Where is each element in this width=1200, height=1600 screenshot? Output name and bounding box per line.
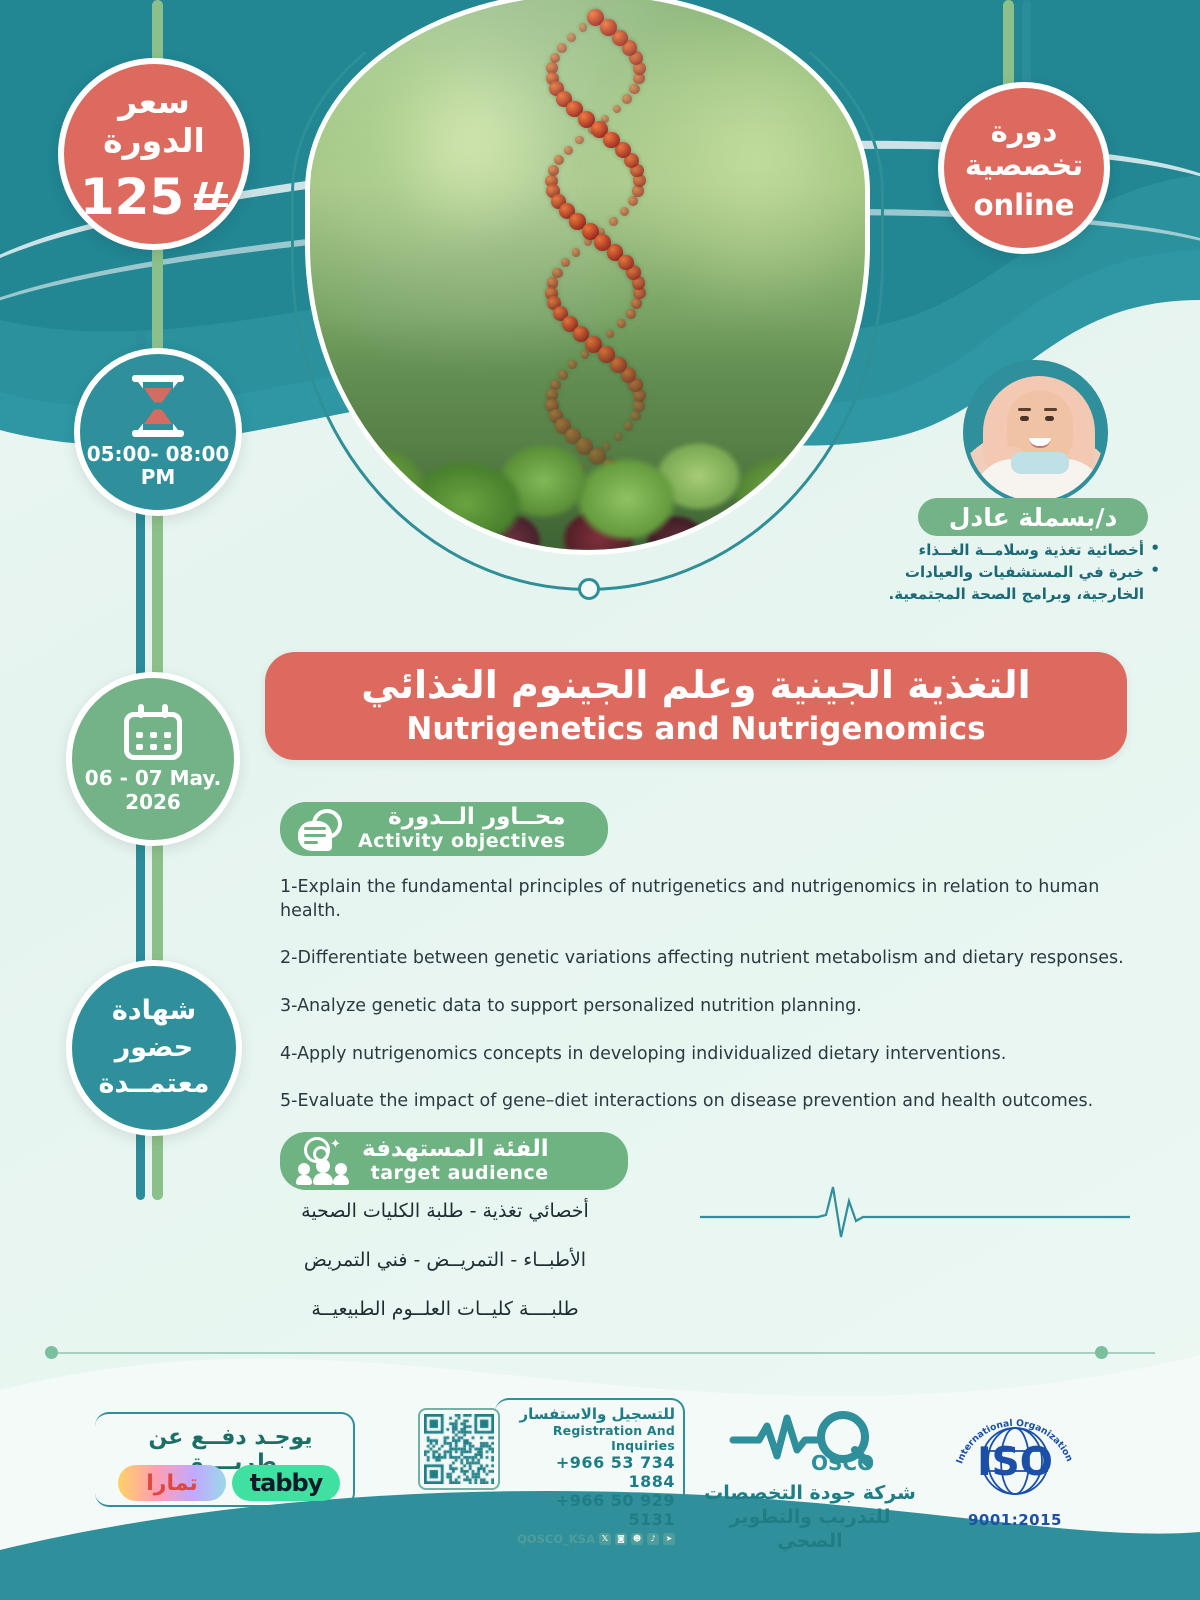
price-label: سعر الدورة [64, 82, 244, 160]
saudi-riyal-icon [194, 179, 228, 215]
speaker-bio-item: أخصائية تغذية وسلامــة الغــذاء [880, 540, 1160, 562]
date-value: 06 - 07 May.2026 [85, 766, 221, 814]
objective-item: 2-Differentiate between genetic variatio… [280, 947, 1160, 971]
contact-phone-2[interactable]: +966 50 929 5131 [505, 1491, 675, 1529]
objective-item: 5-Evaluate the impact of gene–diet inter… [280, 1090, 1160, 1114]
x-icon[interactable]: 𝕏 [599, 1533, 611, 1545]
telegram-icon[interactable]: ➤ [663, 1533, 675, 1545]
objective-item: 4-Apply nutrigenomics concepts in develo… [280, 1043, 1160, 1067]
speaker-bio-list: أخصائية تغذية وسلامــة الغــذاءخبرة في ا… [880, 540, 1160, 605]
certificate-label: شهادة حضورمعتمــدة [72, 993, 236, 1102]
hourglass-icon [130, 375, 186, 437]
company-block: OSCO شركة جودة التخصصاتللتدريب والتطوير … [700, 1410, 920, 1553]
calendar-icon [124, 704, 182, 760]
instagram-icon[interactable]: ◙ [615, 1533, 627, 1545]
company-name: شركة جودة التخصصاتللتدريب والتطوير الصحي [700, 1482, 920, 1553]
price-amount: 125 [80, 168, 184, 226]
social-handle-row: QOSCO_KSA 𝕏 ◙ ☻ ♪ ➤ [505, 1532, 675, 1546]
target-audience-icon: ✦ [298, 1137, 348, 1185]
objectives-heading-arabic: محــاور الــدورة [388, 805, 565, 831]
course-title-banner: التغذية الجينية وعلم الجينوم الغذائي Nut… [265, 652, 1127, 760]
course-title-english: Nutrigenetics and Nutrigenomics [406, 711, 985, 747]
objectives-heading-english: Activity objectives [358, 831, 566, 852]
certificate-badge: شهادة حضورمعتمــدة [66, 960, 242, 1136]
time-value: 05:00- 08:00 PM [80, 443, 236, 489]
iso-badge: International Organization for Standardi… [940, 1395, 1090, 1529]
chat-bubble-icon [298, 807, 344, 851]
social-handle: QOSCO_KSA [517, 1532, 595, 1546]
snapchat-icon[interactable]: ☻ [631, 1533, 643, 1545]
contact-phone-1[interactable]: +966 53 734 1884 [505, 1453, 675, 1491]
speaker-bio-item: خبرة في المستشفيات والعيادات الخارجية، و… [880, 562, 1160, 606]
footer-divider-dot-left [45, 1346, 58, 1359]
date-badge: 06 - 07 May.2026 [66, 672, 240, 846]
iso-mark: ISO [977, 1440, 1053, 1485]
objectives-list: 1-Explain the fundamental principles of … [280, 876, 1160, 1138]
price-badge: سعر الدورة 125 [58, 58, 250, 250]
tiktok-icon[interactable]: ♪ [647, 1533, 659, 1545]
ecg-line-decoration [700, 1175, 1130, 1245]
hero-image [305, 0, 870, 555]
footer-divider [45, 1352, 1155, 1354]
time-badge: 05:00- 08:00 PM [74, 348, 242, 516]
audience-heading: ✦ الفئة المستهدفة target audience [280, 1132, 628, 1190]
speaker-name: د/بسملة عادل [918, 498, 1148, 536]
online-badge-english: online [974, 188, 1075, 222]
course-title-arabic: التغذية الجينية وعلم الجينوم الغذائي [361, 665, 1030, 707]
audience-item: أخصائي تغذية - طلبة الكليات الصحية [280, 1200, 610, 1223]
audience-heading-arabic: الفئة المستهدفة [362, 1137, 549, 1163]
audience-item: الأطبــاء - التمريــض - فني التمريض [280, 1249, 610, 1272]
tamara-logo[interactable]: تمارا [118, 1465, 226, 1501]
speaker-avatar [963, 360, 1108, 505]
contact-block: للتسجيل والاستفسار Registration And Inqu… [505, 1405, 675, 1546]
audience-heading-english: target audience [371, 1163, 549, 1184]
online-badge-arabic: دورة تخصصية [944, 114, 1104, 182]
footer-divider-dot-right [1095, 1346, 1108, 1359]
iso-standard: 9001:2015 [940, 1511, 1090, 1529]
objectives-heading: محــاور الــدورة Activity objectives [280, 802, 608, 856]
tabby-logo[interactable]: tabby [232, 1465, 340, 1501]
contact-title-arabic: للتسجيل والاستفسار [505, 1405, 675, 1423]
online-badge: دورة تخصصية online [938, 82, 1110, 254]
qosco-logo-icon: OSCO [725, 1410, 895, 1472]
qosco-logo-text: OSCO [811, 1451, 874, 1472]
hero-shading [310, 0, 865, 550]
audience-list: أخصائي تغذية - طلبة الكليات الصحيةالأطبـ… [280, 1200, 610, 1346]
iso-logo-icon: International Organization for Standardi… [951, 1395, 1079, 1505]
poster-root: سعر الدورة 125 دورة تخصصية online 05:00-… [0, 0, 1200, 1600]
audience-item: طلبــــة كليــات العلــوم الطبيعيــة [280, 1298, 610, 1321]
contact-title-english: Registration And Inquiries [505, 1423, 675, 1453]
arch-bottom-dot [578, 578, 600, 600]
objective-item: 3-Analyze genetic data to support person… [280, 995, 1160, 1019]
objective-item: 1-Explain the fundamental principles of … [280, 876, 1160, 923]
registration-qr-code[interactable] [418, 1408, 500, 1490]
price-amount-row: 125 [80, 168, 228, 226]
